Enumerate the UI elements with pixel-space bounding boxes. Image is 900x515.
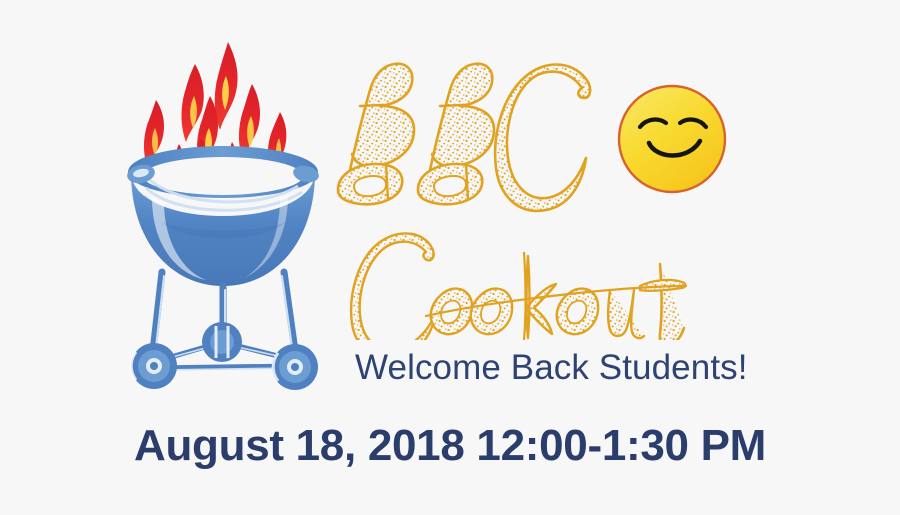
event-date-time: August 18, 2018 12:00-1:30 PM <box>0 420 900 473</box>
wordmark-cookout <box>351 233 686 340</box>
wordmark-bbc <box>338 64 590 211</box>
cookout-flyer: Welcome Back Students! August 18, 2018 1… <box>0 0 900 515</box>
kettle-grill-illustration <box>110 20 340 410</box>
welcome-subtitle: Welcome Back Students! <box>355 348 855 388</box>
grill-center-hub <box>202 322 242 362</box>
grill-wheel-right <box>272 344 318 390</box>
smiling-face-emoji <box>616 83 728 195</box>
grill-wheel-left <box>131 343 177 389</box>
